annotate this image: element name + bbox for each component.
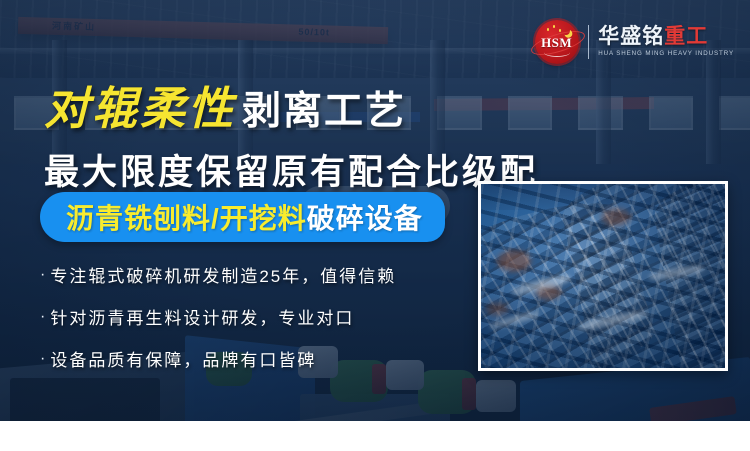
product-category-pill[interactable]: 沥青铣刨料/开挖料破碎设备: [40, 192, 445, 242]
bullet-dot-icon: ·: [40, 309, 45, 325]
bullet-text: 针对沥青再生料设计研发，专业对口: [50, 304, 354, 329]
bullet-dot-icon: ·: [40, 267, 45, 283]
bottom-white-strip: [0, 421, 750, 451]
list-item: · 针对沥青再生料设计研发，专业对口: [40, 304, 396, 329]
bullet-text: 专注辊式破碎机研发制造25年，值得信赖: [50, 262, 396, 287]
logo-divider: [588, 25, 590, 59]
logo-name-cn-white: 华盛铭: [598, 25, 664, 48]
bullet-text: 设备品质有保障，品牌有口皆碑: [50, 346, 316, 371]
headline-line-2: 最大限度保留原有配合比级配: [44, 144, 538, 195]
hsm-monogram: HSM: [541, 35, 572, 51]
headline-rest: 剥离工艺: [242, 80, 406, 136]
company-logo[interactable]: HSM 华盛铭重工 HUA SHENG MING HEAVY INDUSTRY: [535, 20, 734, 64]
star-icon: [547, 28, 550, 31]
logo-name-cn: 华盛铭重工: [598, 26, 734, 47]
headline-highlight: 对辊柔性: [44, 72, 236, 137]
logo-name-cn-red: 重工: [664, 25, 708, 48]
photo-shading: [481, 184, 725, 368]
logo-name-en: HUA SHENG MING HEAVY INDUSTRY: [598, 51, 734, 57]
star-icon: [553, 25, 556, 28]
headline-block: 对辊柔性 剥离工艺 最大限度保留原有配合比级配: [44, 72, 538, 195]
promo-banner: 河南矿山 50/10t: [0, 0, 750, 421]
bullet-dot-icon: ·: [40, 351, 45, 367]
product-photo-frame[interactable]: [478, 181, 728, 371]
star-icon: [559, 29, 562, 32]
pill-text-white: 破碎设备: [307, 197, 423, 237]
hsm-emblem-icon: HSM: [535, 20, 579, 64]
product-photo-image: [481, 184, 725, 368]
selling-points-list: · 专注辊式破碎机研发制造25年，值得信赖 · 针对沥青再生料设计研发，专业对口…: [40, 262, 396, 388]
pill-text-yellow: 沥青铣刨料/开挖料: [66, 197, 307, 237]
headline-line-1: 对辊柔性 剥离工艺: [44, 72, 538, 137]
logo-wordmark: 华盛铭重工 HUA SHENG MING HEAVY INDUSTRY: [598, 26, 734, 57]
list-item: · 专注辊式破碎机研发制造25年，值得信赖: [40, 262, 396, 287]
list-item: · 设备品质有保障，品牌有口皆碑: [40, 346, 396, 371]
